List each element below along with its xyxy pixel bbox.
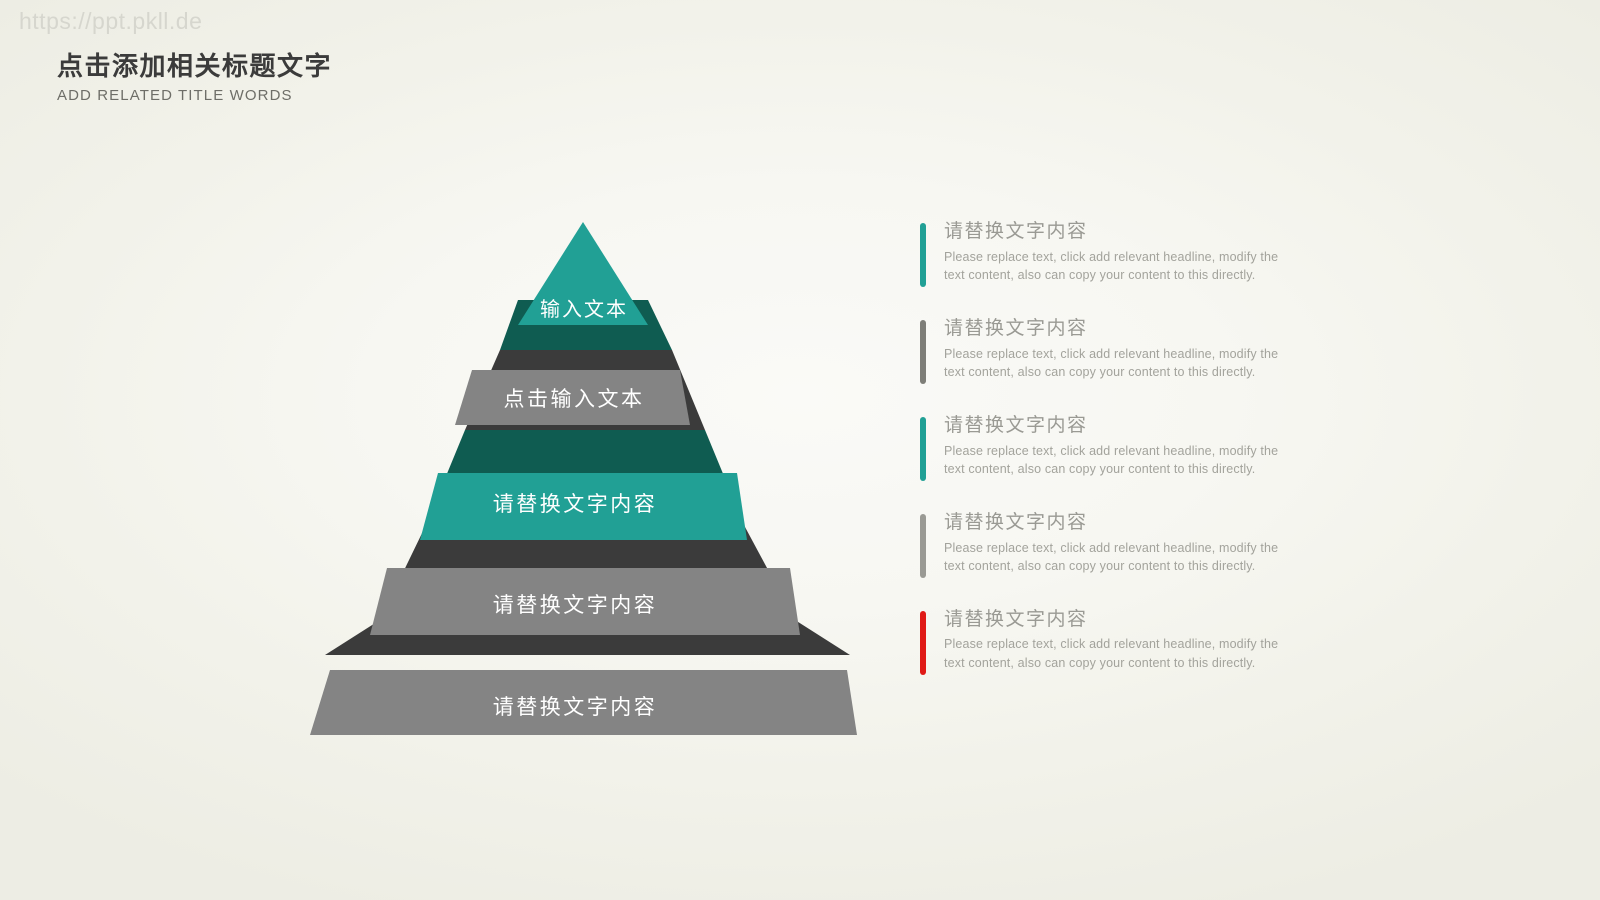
list-item-title: 请替换文字内容 — [944, 511, 1340, 536]
list-item[interactable]: 请替换文字内容 Please replace text, click add r… — [920, 220, 1340, 284]
page-title: 点击添加相关标题文字 — [57, 50, 332, 83]
page-subtitle: ADD RELATED TITLE WORDS — [57, 87, 332, 104]
pyramid-tier-4-label: 请替换文字内容 — [493, 594, 658, 617]
pyramid-tier-5-label: 请替换文字内容 — [493, 696, 658, 719]
list-item-description: Please replace text, click add relevant … — [944, 248, 1280, 284]
accent-bar — [920, 223, 926, 287]
watermark-url: https://ppt.pkll.de — [19, 8, 202, 35]
list-item-description: Please replace text, click add relevant … — [944, 442, 1280, 478]
list-item[interactable]: 请替换文字内容 Please replace text, click add r… — [920, 414, 1340, 478]
pyramid-tier-1-label: 输入文本 — [540, 298, 628, 321]
pyramid-diagram: 输入文本 点击输入文本 请替换文字内容 请替换文字内容 请替换文字内容 — [250, 200, 930, 760]
list-item[interactable]: 请替换文字内容 Please replace text, click add r… — [920, 511, 1340, 575]
description-list: 请替换文字内容 Please replace text, click add r… — [920, 220, 1340, 672]
pyramid-tier-2-label: 点击输入文本 — [504, 388, 645, 411]
accent-bar — [920, 417, 926, 481]
accent-bar — [920, 611, 926, 675]
accent-bar — [920, 320, 926, 384]
list-item-title: 请替换文字内容 — [944, 414, 1340, 439]
accent-bar — [920, 514, 926, 578]
list-item-description: Please replace text, click add relevant … — [944, 539, 1280, 575]
list-item-title: 请替换文字内容 — [944, 608, 1340, 633]
list-item-description: Please replace text, click add relevant … — [944, 635, 1280, 671]
pyramid-tier-3-label: 请替换文字内容 — [493, 493, 658, 516]
slide-header: 点击添加相关标题文字 ADD RELATED TITLE WORDS — [57, 50, 332, 104]
list-item-title: 请替换文字内容 — [944, 317, 1340, 342]
list-item-title: 请替换文字内容 — [944, 220, 1340, 245]
list-item-description: Please replace text, click add relevant … — [944, 345, 1280, 381]
list-item[interactable]: 请替换文字内容 Please replace text, click add r… — [920, 317, 1340, 381]
list-item[interactable]: 请替换文字内容 Please replace text, click add r… — [920, 608, 1340, 672]
slide-canvas: https://ppt.pkll.de 点击添加相关标题文字 ADD RELAT… — [0, 0, 1600, 900]
